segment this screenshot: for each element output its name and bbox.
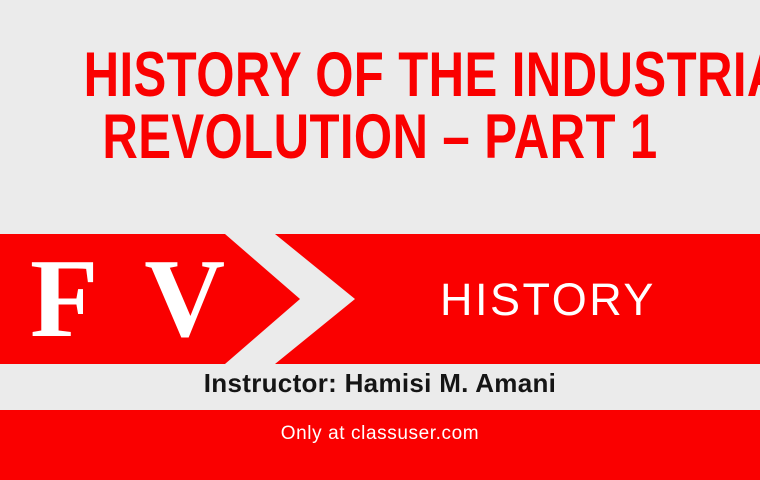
course-title-card: HISTORY OF THE INDUSTRIAL REVOLUTION – P… — [0, 0, 760, 480]
brand-monogram: F V — [30, 243, 237, 355]
brand-logo: F V — [30, 234, 237, 364]
logo-band: F V HISTORY — [0, 234, 760, 364]
subject-label: HISTORY — [440, 234, 656, 364]
footer-website-text: Only at classuser.com — [0, 422, 760, 446]
title-line-2: REVOLUTION – PART 1 — [84, 106, 677, 168]
footer-bar: Only at classuser.com — [0, 410, 760, 480]
page-title: HISTORY OF THE INDUSTRIAL REVOLUTION – P… — [0, 44, 760, 168]
instructor-name: Instructor: Hamisi M. Amani — [0, 368, 760, 398]
title-line-1: HISTORY OF THE INDUSTRIAL — [84, 44, 677, 106]
